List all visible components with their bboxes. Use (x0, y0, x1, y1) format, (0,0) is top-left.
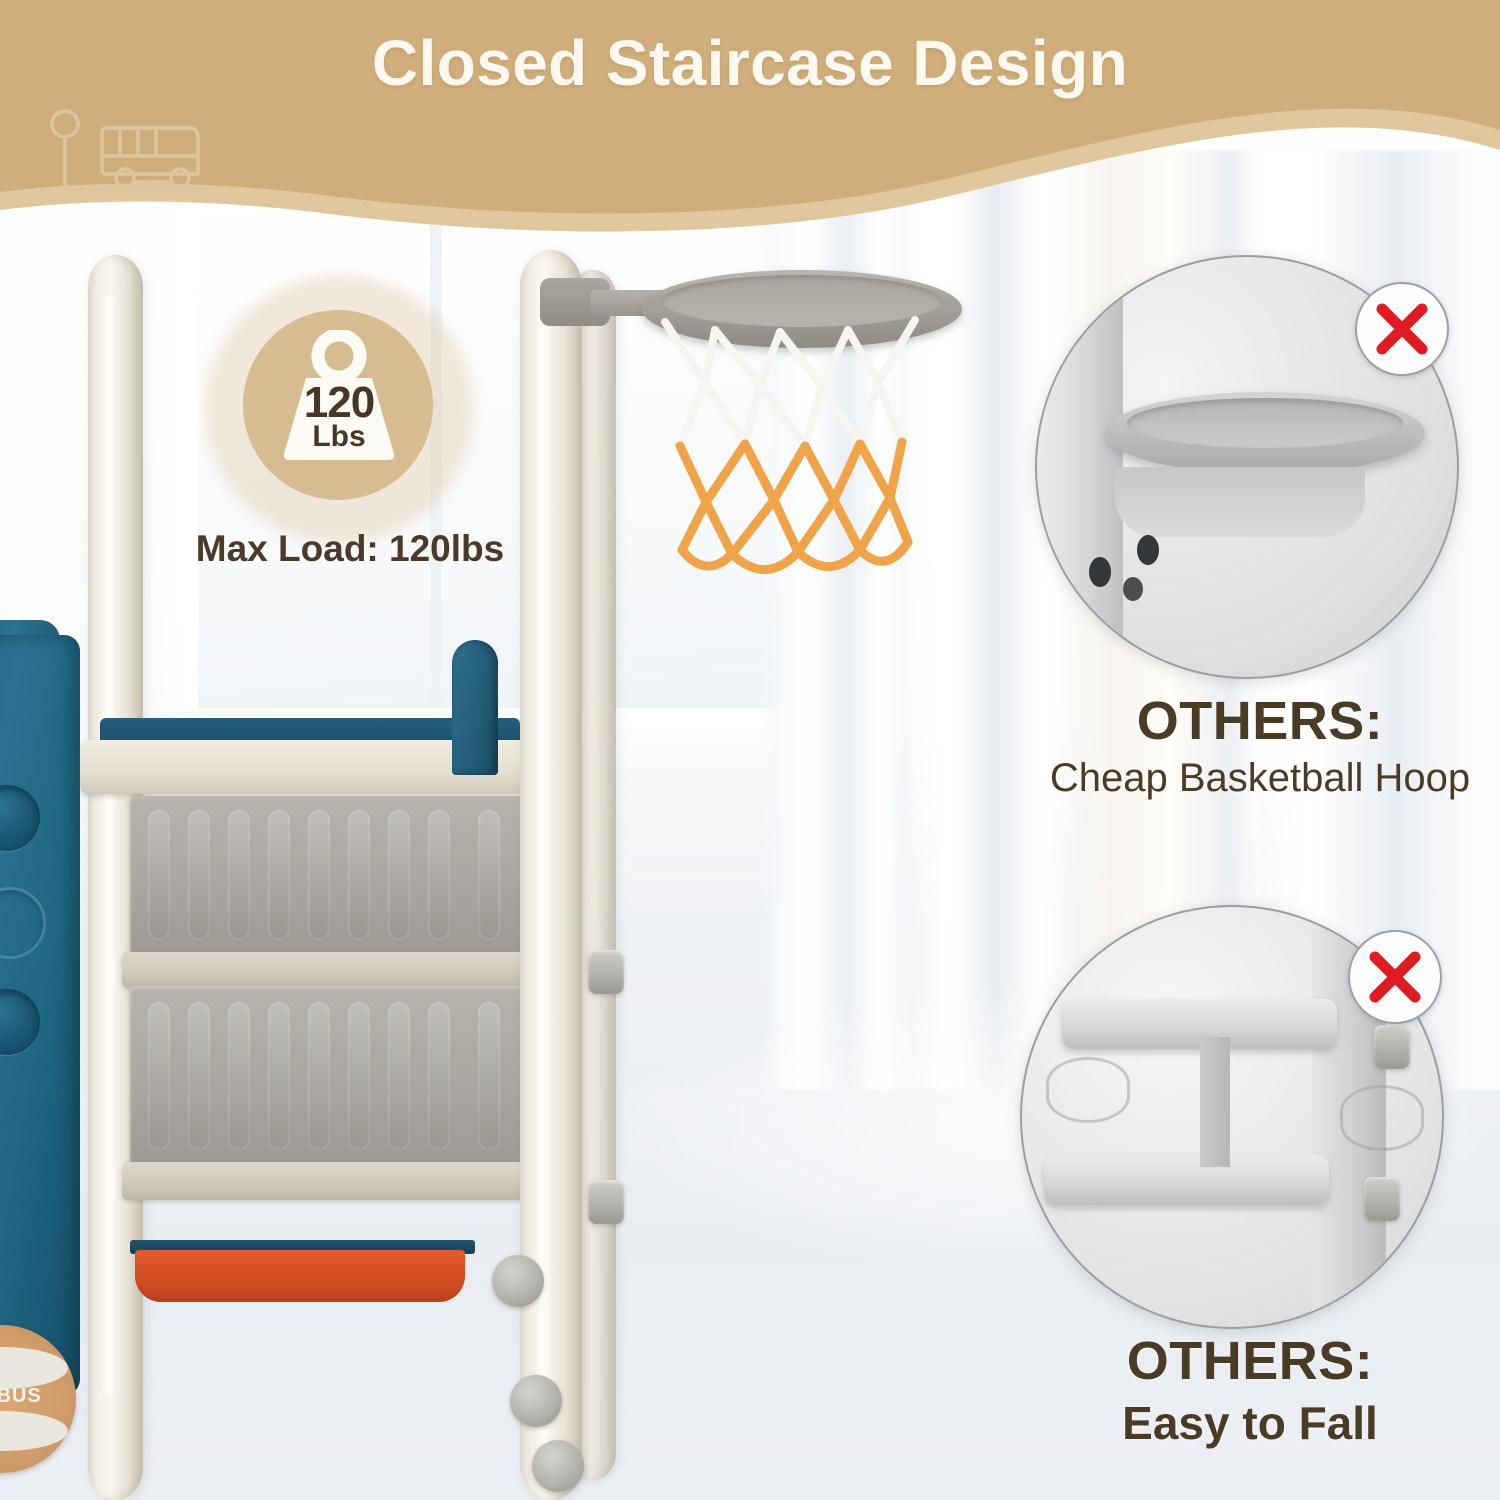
porthole-window (0, 887, 46, 959)
face-eye-left-icon (1089, 557, 1111, 587)
gray-pole (1043, 257, 1123, 677)
hoop-shadow-lip (1115, 467, 1365, 537)
ladder-knob (1374, 1025, 1410, 1069)
face-mouth-icon (1123, 577, 1143, 601)
caption-head: OTHERS: (1020, 690, 1500, 752)
caption-head: OTHERS: (1010, 1330, 1490, 1392)
red-x-badge-hoop (1355, 282, 1449, 376)
closed-step-lower (130, 986, 528, 1166)
step-edge-lower (122, 1162, 532, 1200)
ladder-knob (1364, 1177, 1400, 1221)
load-unit: Lbs (276, 420, 402, 454)
rail-knob (588, 1180, 624, 1224)
base-tray (135, 1250, 465, 1302)
rail-wheel (510, 1375, 562, 1427)
caption-hoop-comparison: OTHERS: Cheap Basketball Hoop (1020, 690, 1500, 801)
red-x-badge-ladder (1348, 930, 1442, 1024)
infographic-canvas: TE BUS (0, 0, 1500, 1500)
bus-logo-text: TE BUS (0, 1385, 76, 1408)
red-x-icon (1366, 948, 1424, 1006)
ladder-emboss-left-icon (1046, 1057, 1130, 1123)
ladder-rung-lower (1044, 1155, 1329, 1205)
load-caption: Max Load: 120lbs (185, 528, 515, 570)
hoop-net (530, 250, 950, 600)
bus-side-panel (0, 635, 80, 1395)
cheap-hoop-rim-inner (1127, 398, 1403, 448)
red-x-icon (1373, 300, 1431, 358)
ladder-emboss-right-icon (1340, 1085, 1424, 1151)
caption-sub: Easy to Fall (1010, 1396, 1490, 1450)
face-eye-right-icon (1137, 535, 1159, 565)
caption-sub: Cheap Basketball Hoop (1020, 756, 1500, 801)
rail-wheel (532, 1440, 584, 1492)
step-edge-upper (122, 952, 547, 988)
porthole-window (0, 989, 40, 1055)
rail-knob (588, 950, 624, 994)
porthole-window (0, 785, 40, 851)
ladder-vertical-strut (1200, 1037, 1230, 1167)
basketball-hoop (530, 250, 950, 600)
rail-wheel (492, 1255, 544, 1307)
closed-step-upper (130, 796, 535, 956)
caption-ladder-comparison: OTHERS: Easy to Fall (1010, 1330, 1490, 1450)
safety-handle (452, 640, 498, 775)
